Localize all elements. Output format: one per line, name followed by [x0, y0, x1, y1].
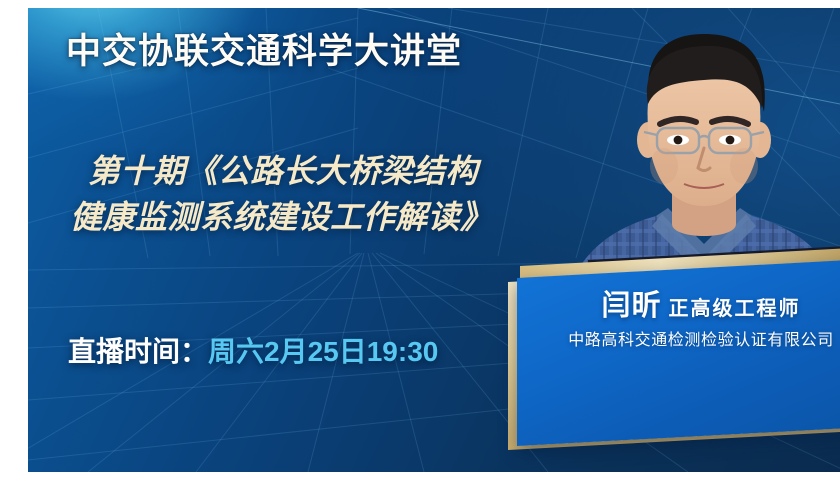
- subtitle-line-1: 第十期《公路长大桥梁结构: [70, 148, 493, 194]
- live-time-label: 直播时间：: [68, 336, 208, 367]
- speaker-card-text: 闫昕正高级工程师 中路高科交通检测检验认证有限公司: [517, 258, 840, 446]
- session-subtitle: 第十期《公路长大桥梁结构 健康监测系统建设工作解读》: [70, 148, 493, 240]
- page-title: 中交协联交通科学大讲堂: [66, 34, 462, 69]
- speaker-title: 正高级工程师: [669, 298, 801, 320]
- live-time-value: 周六2月25日19:30: [208, 336, 438, 367]
- speaker-name-row: 闫昕正高级工程师: [535, 292, 840, 321]
- speaker-card: 闫昕正高级工程师 中路高科交通检测检验认证有限公司: [508, 276, 840, 456]
- speaker-name: 闫昕: [601, 290, 661, 322]
- poster-canvas: 中交协联交通科学大讲堂 第十期《公路长大桥梁结构 健康监测系统建设工作解读》: [28, 8, 840, 472]
- speaker-organization: 中路高科交通检测检验认证有限公司: [535, 333, 840, 349]
- live-time: 直播时间：周六2月25日19:30: [68, 338, 438, 366]
- poster-root: 中交协联交通科学大讲堂 第十期《公路长大桥梁结构 健康监测系统建设工作解读》: [0, 0, 840, 480]
- subtitle-line-2: 健康监测系统建设工作解读》: [70, 194, 493, 240]
